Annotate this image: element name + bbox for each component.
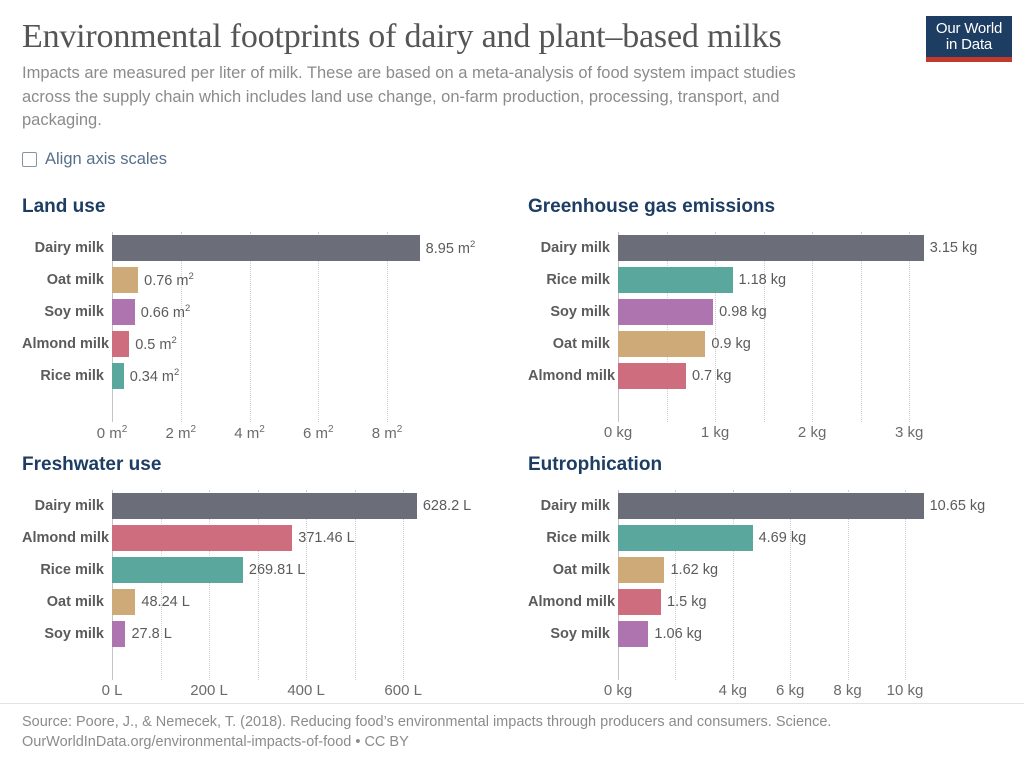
axis-tick-text: 0 kg bbox=[604, 424, 632, 441]
bar-rows: Dairy milk8.95 m2Oat milk0.76 m2Soy milk… bbox=[22, 232, 500, 392]
bar-value-label: 48.24 L bbox=[135, 594, 189, 610]
bar-row[interactable]: Dairy milk628.2 L bbox=[22, 490, 500, 522]
bar-row[interactable]: Dairy milk3.15 kg bbox=[528, 232, 1006, 264]
axis-tick-superscript: 2 bbox=[122, 424, 128, 435]
axis-tick-text: 6 kg bbox=[776, 682, 804, 699]
axis-tick-text: 600 L bbox=[384, 682, 422, 699]
bar[interactable] bbox=[112, 331, 129, 357]
bar[interactable] bbox=[618, 299, 713, 325]
axis-tick-label: 4 kg bbox=[719, 682, 747, 699]
footer-source: Source: Poore, J., & Nemecek, T. (2018).… bbox=[22, 712, 1004, 732]
bar-track: 1.5 kg bbox=[618, 586, 1006, 618]
category-label: Oat milk bbox=[22, 594, 112, 610]
axis-tick-label: 8 kg bbox=[833, 682, 861, 699]
bar-value-label: 0.9 kg bbox=[705, 336, 751, 352]
bar[interactable] bbox=[618, 331, 705, 357]
category-label: Soy milk bbox=[528, 304, 618, 320]
bar-value-text: 371.46 L bbox=[298, 530, 354, 546]
bar-row[interactable]: Almond milk371.46 L bbox=[22, 522, 500, 554]
plot-area: Dairy milk8.95 m2Oat milk0.76 m2Soy milk… bbox=[22, 232, 500, 422]
bar-value-label: 0.7 kg bbox=[686, 368, 732, 384]
category-label: Soy milk bbox=[528, 626, 618, 642]
facet-title: Eutrophication bbox=[528, 454, 1006, 476]
bar-value-label: 1.62 kg bbox=[664, 562, 718, 578]
category-label: Dairy milk bbox=[22, 498, 112, 514]
bar[interactable] bbox=[112, 235, 420, 261]
facet-title: Freshwater use bbox=[22, 454, 500, 476]
plot-area: Dairy milk628.2 LAlmond milk371.46 LRice… bbox=[22, 490, 500, 680]
logo-line-2: in Data bbox=[932, 37, 1006, 53]
bar-value-text: 48.24 L bbox=[141, 594, 189, 610]
axis-tick-label: 2 m2 bbox=[165, 424, 196, 442]
category-label: Soy milk bbox=[22, 304, 112, 320]
bar-row[interactable]: Almond milk1.5 kg bbox=[528, 586, 1006, 618]
axis-tick-text: 8 m bbox=[372, 425, 397, 442]
bar-value-label: 4.69 kg bbox=[753, 530, 807, 546]
bar-row[interactable]: Soy milk0.66 m2 bbox=[22, 296, 500, 328]
bar-track: 0.9 kg bbox=[618, 328, 1006, 360]
bar-row[interactable]: Almond milk0.5 m2 bbox=[22, 328, 500, 360]
footer-separator-icon: • bbox=[351, 734, 364, 750]
chart-page: Environmental footprints of dairy and pl… bbox=[0, 0, 1024, 762]
bar[interactable] bbox=[618, 493, 924, 519]
bar-track: 269.81 L bbox=[112, 554, 500, 586]
logo-line-1: Our World bbox=[932, 21, 1006, 37]
facet-freshwater-use: Freshwater useDairy milk628.2 LAlmond mi… bbox=[0, 454, 500, 712]
bar-value-text: 0.7 kg bbox=[692, 368, 732, 384]
bar-value-text: 628.2 L bbox=[423, 498, 471, 514]
category-label: Rice milk bbox=[22, 562, 112, 578]
bar-track: 0.7 kg bbox=[618, 360, 1006, 392]
bar-row[interactable]: Rice milk0.34 m2 bbox=[22, 360, 500, 392]
bar[interactable] bbox=[112, 363, 124, 389]
bar[interactable] bbox=[112, 525, 292, 551]
bar-row[interactable]: Rice milk1.18 kg bbox=[528, 264, 1006, 296]
axis-tick-text: 2 kg bbox=[798, 424, 826, 441]
facet-greenhouse-gas-emissions: Greenhouse gas emissionsDairy milk3.15 k… bbox=[506, 196, 1006, 454]
axis-tick-superscript: 2 bbox=[259, 424, 265, 435]
bar-value-superscript: 2 bbox=[470, 239, 475, 250]
axis-tick-label: 8 m2 bbox=[372, 424, 403, 442]
category-label: Rice milk bbox=[528, 530, 618, 546]
bar-row[interactable]: Oat milk0.76 m2 bbox=[22, 264, 500, 296]
facet-land-use: Land useDairy milk8.95 m2Oat milk0.76 m2… bbox=[0, 196, 500, 454]
bar-value-text: 0.5 m bbox=[135, 337, 171, 353]
axis-tick-label: 0 L bbox=[102, 682, 123, 699]
bar-row[interactable]: Soy milk27.8 L bbox=[22, 618, 500, 650]
bar-value-label: 0.98 kg bbox=[713, 304, 767, 320]
bar[interactable] bbox=[618, 621, 648, 647]
axis-tick-text: 0 kg bbox=[604, 682, 632, 699]
bar[interactable] bbox=[618, 363, 686, 389]
bar-track: 0.5 m2 bbox=[112, 328, 500, 360]
category-label: Oat milk bbox=[22, 272, 112, 288]
bar-value-superscript: 2 bbox=[188, 271, 193, 282]
bar-track: 1.62 kg bbox=[618, 554, 1006, 586]
bar-row[interactable]: Oat milk1.62 kg bbox=[528, 554, 1006, 586]
bar-value-label: 0.66 m2 bbox=[135, 303, 191, 321]
axis-tick-text: 0 m bbox=[97, 425, 122, 442]
bar-value-superscript: 2 bbox=[174, 367, 179, 378]
axis-tick-text: 2 m bbox=[165, 425, 190, 442]
bar-value-label: 628.2 L bbox=[417, 498, 471, 514]
axis-tick-text: 1 kg bbox=[701, 424, 729, 441]
category-label: Oat milk bbox=[528, 336, 618, 352]
bar-value-label: 269.81 L bbox=[243, 562, 305, 578]
bar-row[interactable]: Almond milk0.7 kg bbox=[528, 360, 1006, 392]
chart-controls: Align axis scales bbox=[0, 132, 1024, 169]
bar-row[interactable]: Dairy milk8.95 m2 bbox=[22, 232, 500, 264]
axis-tick-text: 200 L bbox=[190, 682, 228, 699]
axis-tick-text: 8 kg bbox=[833, 682, 861, 699]
bar[interactable] bbox=[618, 235, 924, 261]
axis-tick-label: 200 L bbox=[190, 682, 228, 699]
bar-track: 3.15 kg bbox=[618, 232, 1006, 264]
bar-track: 4.69 kg bbox=[618, 522, 1006, 554]
bar-row[interactable]: Oat milk48.24 L bbox=[22, 586, 500, 618]
bar-value-text: 4.69 kg bbox=[759, 530, 807, 546]
page-title: Environmental footprints of dairy and pl… bbox=[22, 18, 1004, 56]
bar-track: 0.34 m2 bbox=[112, 360, 500, 392]
bar-value-label: 0.76 m2 bbox=[138, 271, 194, 289]
footer-link-line: OurWorldInData.org/environmental-impacts… bbox=[22, 732, 1004, 752]
category-label: Rice milk bbox=[528, 272, 618, 288]
bar-row[interactable]: Rice milk4.69 kg bbox=[528, 522, 1006, 554]
axis-tick-label: 0 m2 bbox=[97, 424, 128, 442]
chart-subtitle: Impacts are measured per liter of milk. … bbox=[22, 62, 822, 132]
x-axis: 0 kg1 kg2 kg3 kg bbox=[618, 422, 1006, 448]
our-world-in-data-logo[interactable]: Our World in Data bbox=[926, 16, 1012, 62]
facet-eutrophication: EutrophicationDairy milk10.65 kgRice mil… bbox=[506, 454, 1006, 712]
bar[interactable] bbox=[112, 557, 243, 583]
bar-track: 27.8 L bbox=[112, 618, 500, 650]
bar-track: 1.18 kg bbox=[618, 264, 1006, 296]
bar-value-label: 3.15 kg bbox=[924, 240, 978, 256]
bar[interactable] bbox=[618, 589, 661, 615]
axis-tick-label: 0 kg bbox=[604, 682, 632, 699]
axis-tick-label: 6 m2 bbox=[303, 424, 334, 442]
bar-value-superscript: 2 bbox=[171, 335, 176, 346]
bar-row[interactable]: Soy milk1.06 kg bbox=[528, 618, 1006, 650]
bar[interactable] bbox=[112, 589, 135, 615]
bar-value-label: 0.34 m2 bbox=[124, 367, 180, 385]
bar[interactable] bbox=[618, 267, 733, 293]
category-label: Almond milk bbox=[22, 336, 112, 352]
category-label: Rice milk bbox=[22, 368, 112, 384]
bar-value-label: 0.5 m2 bbox=[129, 335, 177, 353]
category-label: Almond milk bbox=[22, 530, 112, 546]
category-label: Almond milk bbox=[528, 368, 618, 384]
bar-track: 10.65 kg bbox=[618, 490, 1006, 522]
category-label: Soy milk bbox=[22, 626, 112, 642]
axis-tick-label: 400 L bbox=[287, 682, 325, 699]
bar-value-label: 371.46 L bbox=[292, 530, 354, 546]
bar-row[interactable]: Rice milk269.81 L bbox=[22, 554, 500, 586]
axis-tick-text: 10 kg bbox=[887, 682, 924, 699]
bar-value-text: 1.5 kg bbox=[667, 594, 707, 610]
facet-title: Greenhouse gas emissions bbox=[528, 196, 1006, 218]
chart-header: Environmental footprints of dairy and pl… bbox=[0, 0, 1024, 132]
axis-tick-text: 3 kg bbox=[895, 424, 923, 441]
bar-value-text: 1.18 kg bbox=[739, 272, 787, 288]
axis-tick-superscript: 2 bbox=[190, 424, 196, 435]
footer-url[interactable]: OurWorldInData.org/environmental-impacts… bbox=[22, 734, 351, 750]
bar-value-label: 1.5 kg bbox=[661, 594, 707, 610]
chart-footer: Source: Poore, J., & Nemecek, T. (2018).… bbox=[0, 703, 1024, 762]
axis-tick-label: 2 kg bbox=[798, 424, 826, 441]
bar-value-label: 1.18 kg bbox=[733, 272, 787, 288]
bar-value-text: 27.8 L bbox=[131, 626, 171, 642]
plot-area: Dairy milk3.15 kgRice milk1.18 kgSoy mil… bbox=[528, 232, 1006, 422]
bar[interactable] bbox=[112, 267, 138, 293]
checkbox-icon[interactable] bbox=[22, 152, 37, 167]
bar-value-text: 0.34 m bbox=[130, 369, 174, 385]
bar[interactable] bbox=[618, 525, 753, 551]
axis-tick-text: 4 m bbox=[234, 425, 259, 442]
category-label: Almond milk bbox=[528, 594, 618, 610]
axis-tick-label: 4 m2 bbox=[234, 424, 265, 442]
axis-tick-label: 3 kg bbox=[895, 424, 923, 441]
axis-tick-label: 10 kg bbox=[887, 682, 924, 699]
bar-track: 8.95 m2 bbox=[112, 232, 500, 264]
bar-row[interactable]: Soy milk0.98 kg bbox=[528, 296, 1006, 328]
facet-grid: Land useDairy milk8.95 m2Oat milk0.76 m2… bbox=[0, 196, 1024, 716]
bar-value-text: 0.66 m bbox=[141, 305, 185, 321]
axis-tick-label: 6 kg bbox=[776, 682, 804, 699]
bar-value-label: 1.06 kg bbox=[648, 626, 702, 642]
category-label: Dairy milk bbox=[528, 498, 618, 514]
bar-track: 0.76 m2 bbox=[112, 264, 500, 296]
bar-rows: Dairy milk3.15 kgRice milk1.18 kgSoy mil… bbox=[528, 232, 1006, 392]
axis-tick-label: 1 kg bbox=[701, 424, 729, 441]
bar-track: 1.06 kg bbox=[618, 618, 1006, 650]
bar-value-label: 8.95 m2 bbox=[420, 239, 476, 257]
bar-value-superscript: 2 bbox=[185, 303, 190, 314]
bar-track: 0.98 kg bbox=[618, 296, 1006, 328]
bar-value-text: 0.9 kg bbox=[711, 336, 751, 352]
axis-tick-text: 400 L bbox=[287, 682, 325, 699]
bar-rows: Dairy milk10.65 kgRice milk4.69 kgOat mi… bbox=[528, 490, 1006, 650]
axis-tick-superscript: 2 bbox=[397, 424, 403, 435]
bar-value-text: 269.81 L bbox=[249, 562, 305, 578]
bar-value-label: 27.8 L bbox=[125, 626, 171, 642]
bar-track: 48.24 L bbox=[112, 586, 500, 618]
bar[interactable] bbox=[112, 299, 135, 325]
axis-tick-label: 0 kg bbox=[604, 424, 632, 441]
bar-value-text: 0.98 kg bbox=[719, 304, 767, 320]
bar-value-label: 10.65 kg bbox=[924, 498, 986, 514]
bar-rows: Dairy milk628.2 LAlmond milk371.46 LRice… bbox=[22, 490, 500, 650]
axis-tick-text: 0 L bbox=[102, 682, 123, 699]
facet-title: Land use bbox=[22, 196, 500, 218]
bar-track: 371.46 L bbox=[112, 522, 500, 554]
bar[interactable] bbox=[112, 493, 417, 519]
bar-value-text: 8.95 m bbox=[426, 241, 470, 257]
x-axis: 0 m22 m24 m26 m28 m2 bbox=[112, 422, 500, 448]
bar-track: 0.66 m2 bbox=[112, 296, 500, 328]
bar-track: 628.2 L bbox=[112, 490, 500, 522]
bar-value-text: 0.76 m bbox=[144, 273, 188, 289]
bar-value-text: 10.65 kg bbox=[930, 498, 986, 514]
bar[interactable] bbox=[618, 557, 664, 583]
align-axis-scales-label: Align axis scales bbox=[45, 150, 167, 169]
plot-area: Dairy milk10.65 kgRice milk4.69 kgOat mi… bbox=[528, 490, 1006, 680]
category-label: Dairy milk bbox=[528, 240, 618, 256]
bar-value-text: 1.06 kg bbox=[654, 626, 702, 642]
bar-row[interactable]: Oat milk0.9 kg bbox=[528, 328, 1006, 360]
category-label: Oat milk bbox=[528, 562, 618, 578]
category-label: Dairy milk bbox=[22, 240, 112, 256]
bar-row[interactable]: Dairy milk10.65 kg bbox=[528, 490, 1006, 522]
footer-license[interactable]: CC BY bbox=[364, 734, 408, 750]
bar-value-text: 1.62 kg bbox=[670, 562, 718, 578]
axis-tick-text: 6 m bbox=[303, 425, 328, 442]
axis-tick-label: 600 L bbox=[384, 682, 422, 699]
bar-value-text: 3.15 kg bbox=[930, 240, 978, 256]
axis-tick-superscript: 2 bbox=[328, 424, 334, 435]
bar[interactable] bbox=[112, 621, 125, 647]
align-axis-scales-checkbox[interactable]: Align axis scales bbox=[22, 150, 167, 169]
axis-tick-text: 4 kg bbox=[719, 682, 747, 699]
